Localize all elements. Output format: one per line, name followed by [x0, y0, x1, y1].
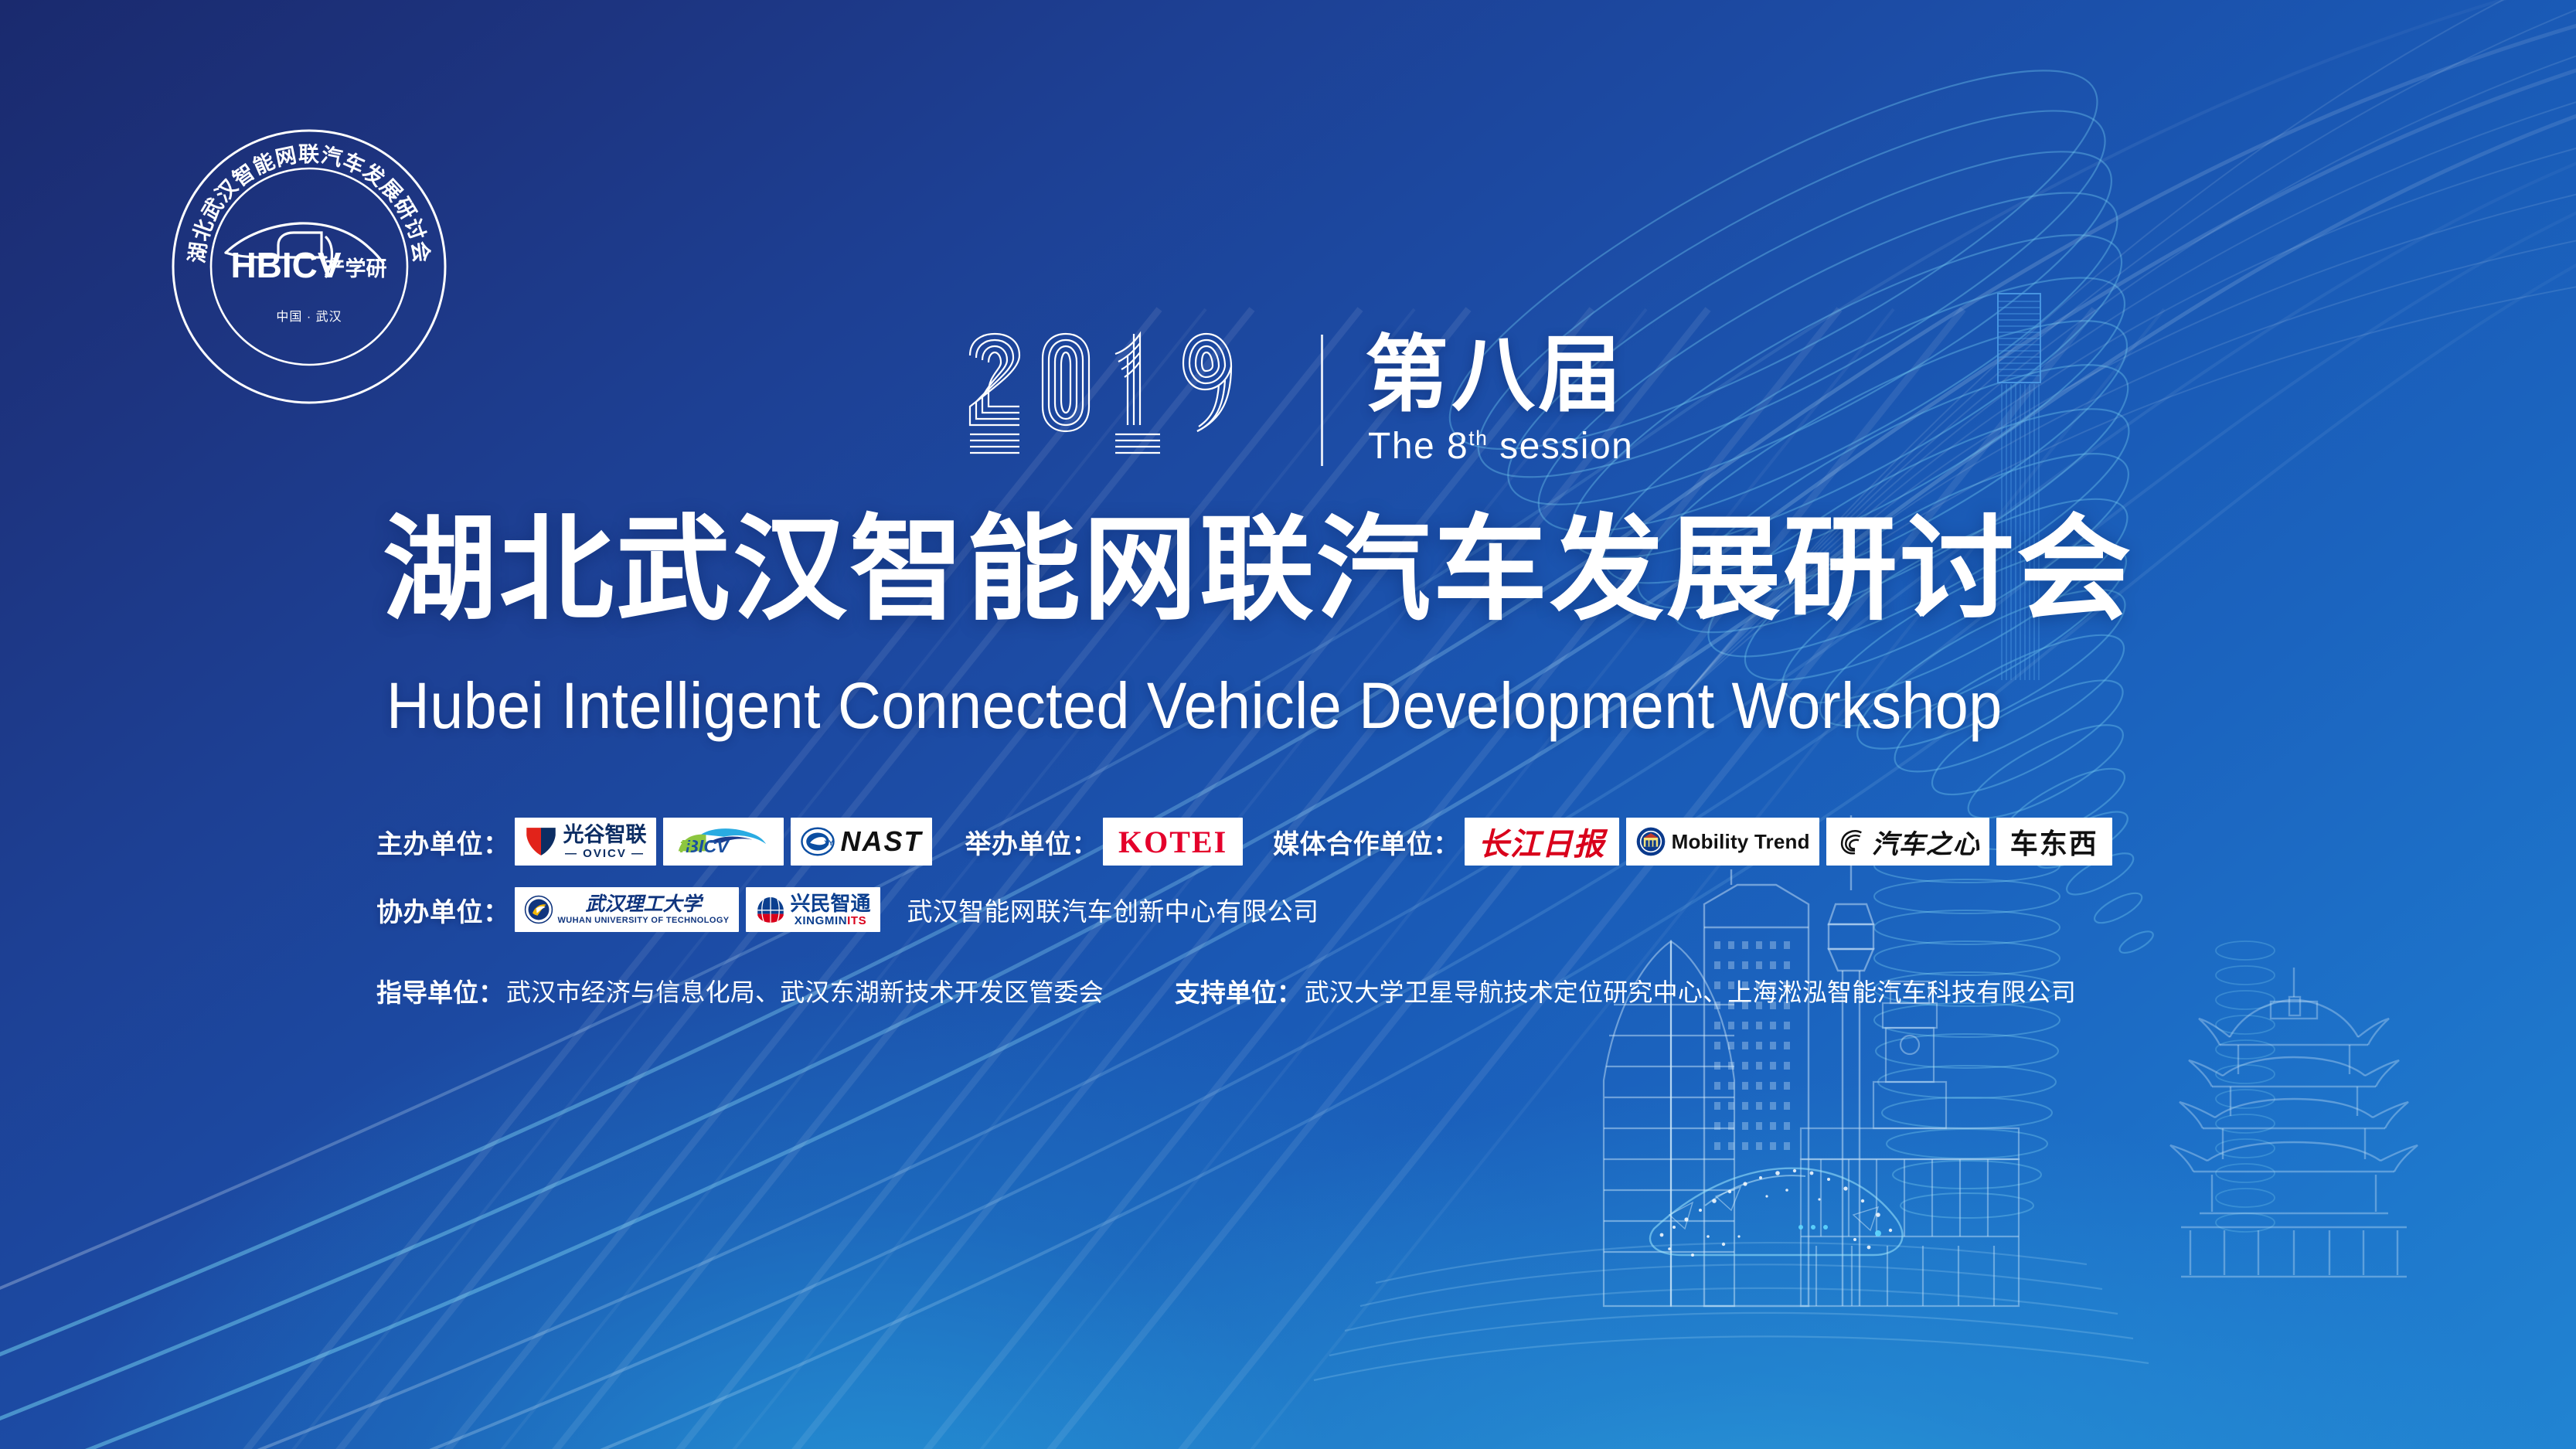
session-en-prefix: The 8	[1368, 426, 1468, 467]
support-text: 武汉大学卫星导航技术定位研究中心、上海淞泓智能汽车科技有限公司	[1305, 973, 2076, 1009]
logo-nast: XY NAST	[791, 818, 932, 866]
sponsor-row-coorganizers: 协办单位： 武汉理工大学 WUHAN UNIVERSITY OF TECHNOL…	[376, 887, 1319, 932]
logo-ovicv: 光谷智联 — OVICV —	[515, 818, 656, 866]
host-label: 举办单位：	[965, 823, 1099, 861]
year-session-block: 第八届 The 8th session	[962, 325, 1633, 475]
logo-xingmin-en: XINGMINITS	[795, 915, 867, 927]
support-label: 支持单位：	[1175, 972, 1302, 1009]
logo-qichezhixin-text: 汽车之心	[1872, 823, 1980, 861]
main-title-en: Hubei Intelligent Connected Vehicle Deve…	[386, 668, 2093, 743]
logo-hbicv: BICV Ħ	[663, 818, 784, 866]
logo-xingmin-en-red: ITS	[847, 914, 866, 927]
guide-label: 指导单位：	[376, 972, 504, 1009]
year-session-divider	[1321, 335, 1323, 466]
logo-kotei-text: KOTEI	[1118, 824, 1227, 860]
coorganizer-extra-text: 武汉智能网联汽车创新中心有限公司	[907, 891, 1319, 928]
coorganizer-label: 协办单位：	[376, 891, 510, 929]
logo-qichezhixin: 汽车之心	[1826, 818, 1989, 866]
seal-suffix: 产学研	[325, 257, 387, 281]
logo-wuhan-university-of-technology: 武汉理工大学 WUHAN UNIVERSITY OF TECHNOLOGY	[515, 887, 739, 932]
logo-xingmin-en-blue: XINGMIN	[795, 914, 847, 927]
media-label: 媒体合作单位：	[1273, 823, 1460, 861]
organizer-label: 主办单位：	[376, 823, 510, 861]
svg-text:XY: XY	[824, 839, 833, 847]
logo-mobility-trend: Mobility Trend	[1626, 818, 1819, 866]
pagoda-outline	[2170, 968, 2418, 1277]
logo-xingmin-cn: 兴民智通	[791, 893, 871, 913]
logo-kotei: KOTEI	[1103, 818, 1243, 866]
svg-text:Ħ: Ħ	[679, 836, 694, 856]
logo-nast-text: NAST	[841, 825, 923, 858]
year-2019-graphic	[962, 325, 1287, 475]
poster-canvas: 湖北武汉智能网联汽车发展研讨会 HBICV 产学研 中国 · 武汉	[0, 0, 2576, 1449]
logo-wut-en: WUHAN UNIVERSITY OF TECHNOLOGY	[558, 917, 730, 925]
session-en-ordinal: th	[1468, 427, 1488, 450]
seal-location: 中国 · 武汉	[276, 310, 342, 324]
session-en-suffix: session	[1488, 426, 1633, 467]
sponsor-row-guidance-support: 指导单位： 武汉市经济与信息化局、武汉东湖新技术开发区管委会 支持单位： 武汉大…	[376, 972, 2076, 1009]
logo-chedongxi-text: 车东西	[2010, 821, 2098, 862]
logo-changjiang-daily: 长江日报	[1465, 818, 1619, 866]
sponsor-row-organizers: 主办单位： 光谷智联 — OVICV — BICV Ħ	[376, 818, 2119, 866]
logo-ovicv-en: — OVICV —	[565, 848, 645, 859]
main-title-cn: 湖北武汉智能网联汽车发展研讨会	[383, 510, 2237, 631]
logo-xingminits: 兴民智通 XINGMINITS	[746, 887, 880, 932]
session-number-en: The 8th session	[1365, 425, 1633, 468]
logo-chedongxi: 车东西	[1996, 818, 2112, 866]
coil-column-decoration	[1874, 849, 2060, 1218]
coil-column-decoration-2	[2216, 941, 2275, 1232]
logo-ovicv-cn: 光谷智联	[563, 825, 647, 845]
skyline-outline	[1604, 815, 2019, 1306]
particle-car-illustration	[1650, 1168, 1903, 1257]
conference-seal-logo: 湖北武汉智能网联汽车发展研讨会 HBICV 产学研 中国 · 武汉	[162, 120, 456, 413]
logo-mobility-trend-text: Mobility Trend	[1672, 830, 1810, 854]
guide-text: 武汉市经济与信息化局、武汉东湖新技术开发区管委会	[506, 973, 1104, 1009]
logo-wut-cn: 武汉理工大学	[586, 895, 702, 914]
session-number-cn: 第八届	[1365, 332, 1625, 417]
logo-changjiang-daily-text: 长江日报	[1479, 819, 1605, 864]
water-ripple-lines	[1314, 1243, 2149, 1380]
